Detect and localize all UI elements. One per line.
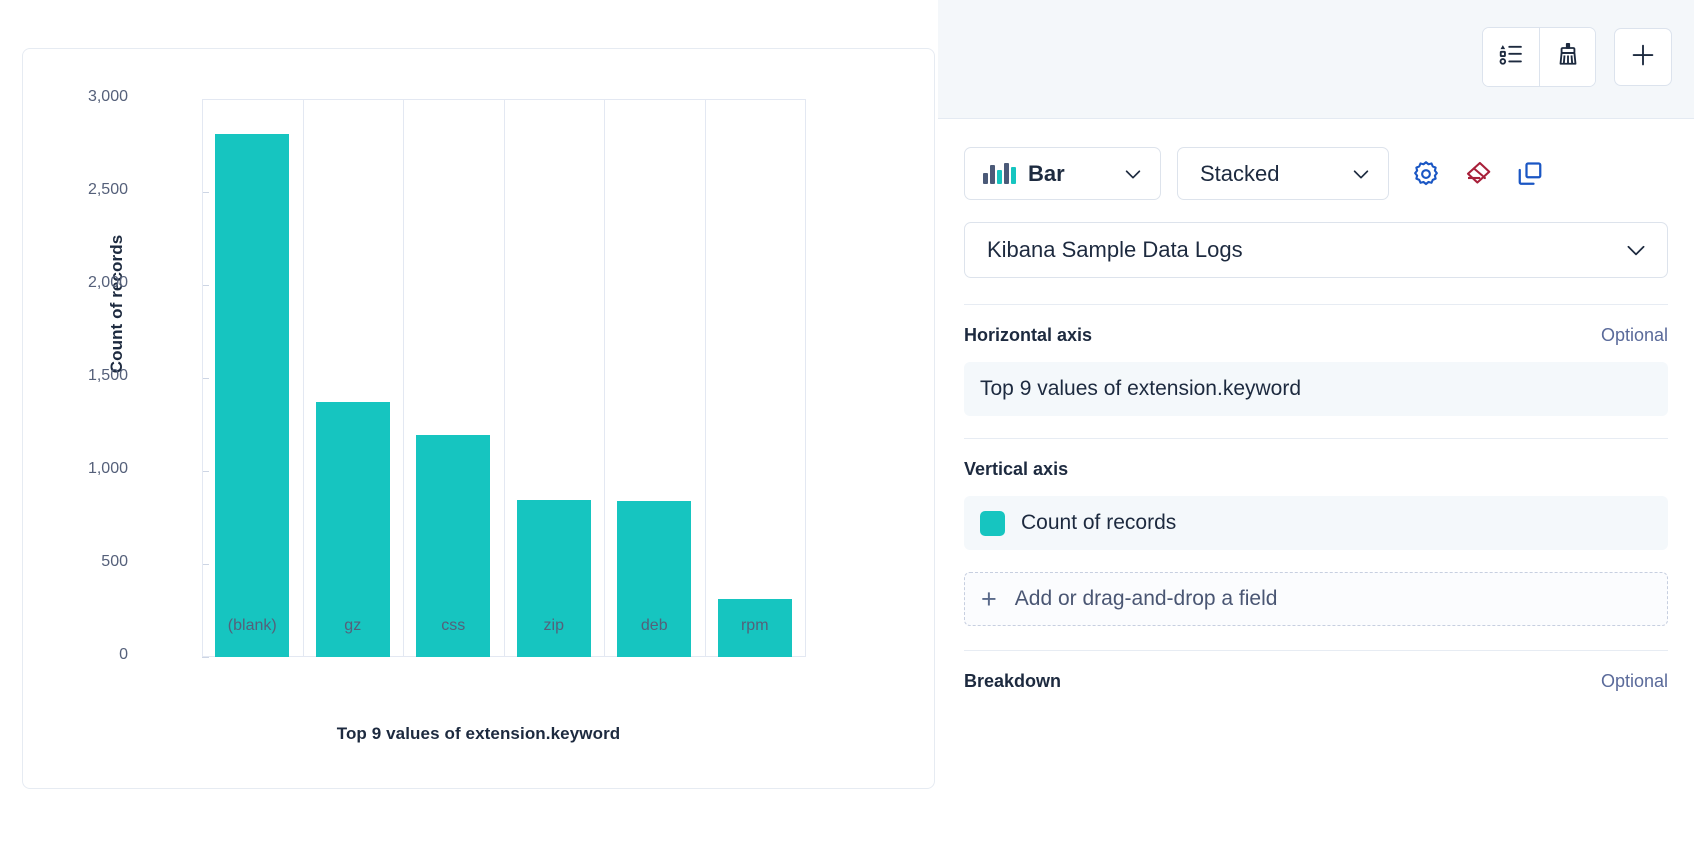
- group-horizontal-axis: Horizontal axis Optional Top 9 values of…: [964, 325, 1668, 416]
- gridline: [805, 99, 806, 657]
- bar-slot: [403, 99, 504, 657]
- horizontal-axis-field[interactable]: Top 9 values of extension.keyword: [964, 362, 1668, 416]
- y-tick-label: 1,500: [88, 367, 128, 385]
- y-tick-label: 0: [119, 646, 128, 664]
- field-label: Top 9 values of extension.keyword: [980, 377, 1301, 401]
- x-tick-label: zip: [504, 617, 605, 635]
- chart-type-row: Bar Stacked: [964, 147, 1668, 200]
- chart-type-select[interactable]: Bar: [964, 147, 1161, 200]
- x-tick-label: gz: [303, 617, 404, 635]
- field-label: Count of records: [1021, 511, 1176, 535]
- bar-slot: [202, 99, 303, 657]
- legend-settings-button[interactable]: [1483, 28, 1539, 86]
- gear-icon[interactable]: [1411, 159, 1441, 189]
- paintbrush-icon: [1554, 41, 1582, 74]
- series-color-swatch[interactable]: [980, 511, 1005, 536]
- group-header: Vertical axis: [964, 459, 1668, 480]
- x-tick-label: css: [403, 617, 504, 635]
- y-tick-label: 2,500: [88, 181, 128, 199]
- config-panel-body: Bar Stacked: [938, 119, 1694, 868]
- group-breakdown: Breakdown Optional: [964, 671, 1668, 692]
- stacking-select[interactable]: Stacked: [1177, 147, 1389, 200]
- chart-inner: Count of records 3,0002,5002,0001,5001,0…: [23, 49, 934, 788]
- bar-slot: [504, 99, 605, 657]
- section-divider: [964, 650, 1668, 651]
- plus-icon: [1628, 40, 1658, 75]
- chart-type-label: Bar: [1028, 161, 1065, 187]
- stacking-label: Stacked: [1200, 161, 1280, 187]
- bar-chart-icon: [983, 163, 1016, 184]
- chevron-down-icon: [1597, 237, 1649, 263]
- appearance-brush-button[interactable]: [1539, 28, 1595, 86]
- x-tick-label: (blank): [202, 617, 303, 635]
- config-panel: Bar Stacked: [938, 0, 1694, 868]
- group-header: Horizontal axis Optional: [964, 325, 1668, 346]
- header-button-group: [1482, 27, 1596, 87]
- chevron-down-icon: [1096, 163, 1144, 185]
- layer-action-icons: [1411, 159, 1545, 189]
- dropzone-label: Add or drag-and-drop a field: [1015, 587, 1278, 611]
- bar-slot: [604, 99, 705, 657]
- legend-list-icon: [1497, 41, 1525, 74]
- group-title: Vertical axis: [964, 459, 1068, 480]
- x-axis-title: Top 9 values of extension.keyword: [23, 724, 934, 744]
- section-divider: [964, 438, 1668, 439]
- datasource-select[interactable]: Kibana Sample Data Logs: [964, 222, 1668, 278]
- bar-series: [202, 99, 805, 657]
- x-tick-label: rpm: [705, 617, 806, 635]
- bar-slot: [303, 99, 404, 657]
- y-tick-label: 2,000: [88, 274, 128, 292]
- vertical-axis-field[interactable]: Count of records: [964, 496, 1668, 550]
- group-title: Horizontal axis: [964, 325, 1092, 346]
- add-layer-button[interactable]: [1614, 28, 1672, 86]
- config-panel-header: [938, 0, 1694, 119]
- bar-slot: [705, 99, 806, 657]
- vertical-axis-dropzone[interactable]: + Add or drag-and-drop a field: [964, 572, 1668, 626]
- section-divider: [964, 304, 1668, 305]
- chart-card: Count of records 3,0002,5002,0001,5001,0…: [22, 48, 935, 789]
- plot-area: [202, 99, 805, 657]
- y-tick-label: 3,000: [88, 88, 128, 106]
- y-tick-label: 500: [101, 553, 128, 571]
- header-toolbar: [1482, 27, 1672, 87]
- group-optional-badge: Optional: [1601, 671, 1668, 692]
- group-vertical-axis: Vertical axis Count of records + Add or …: [964, 459, 1668, 626]
- group-optional-badge: Optional: [1601, 325, 1668, 346]
- group-header: Breakdown Optional: [964, 671, 1668, 692]
- y-tick-label: 1,000: [88, 460, 128, 478]
- copy-icon[interactable]: [1515, 159, 1545, 189]
- bar[interactable]: [215, 134, 289, 657]
- eraser-icon[interactable]: [1463, 159, 1493, 189]
- y-tick-mark: [202, 657, 209, 658]
- chart-workspace: Count of records 3,0002,5002,0001,5001,0…: [0, 0, 938, 868]
- lens-visualization-editor: Count of records 3,0002,5002,0001,5001,0…: [0, 0, 1694, 868]
- plus-icon: +: [981, 586, 997, 613]
- chevron-down-icon: [1324, 163, 1372, 185]
- group-title: Breakdown: [964, 671, 1061, 692]
- x-tick-label: deb: [604, 617, 705, 635]
- datasource-label: Kibana Sample Data Logs: [987, 237, 1243, 263]
